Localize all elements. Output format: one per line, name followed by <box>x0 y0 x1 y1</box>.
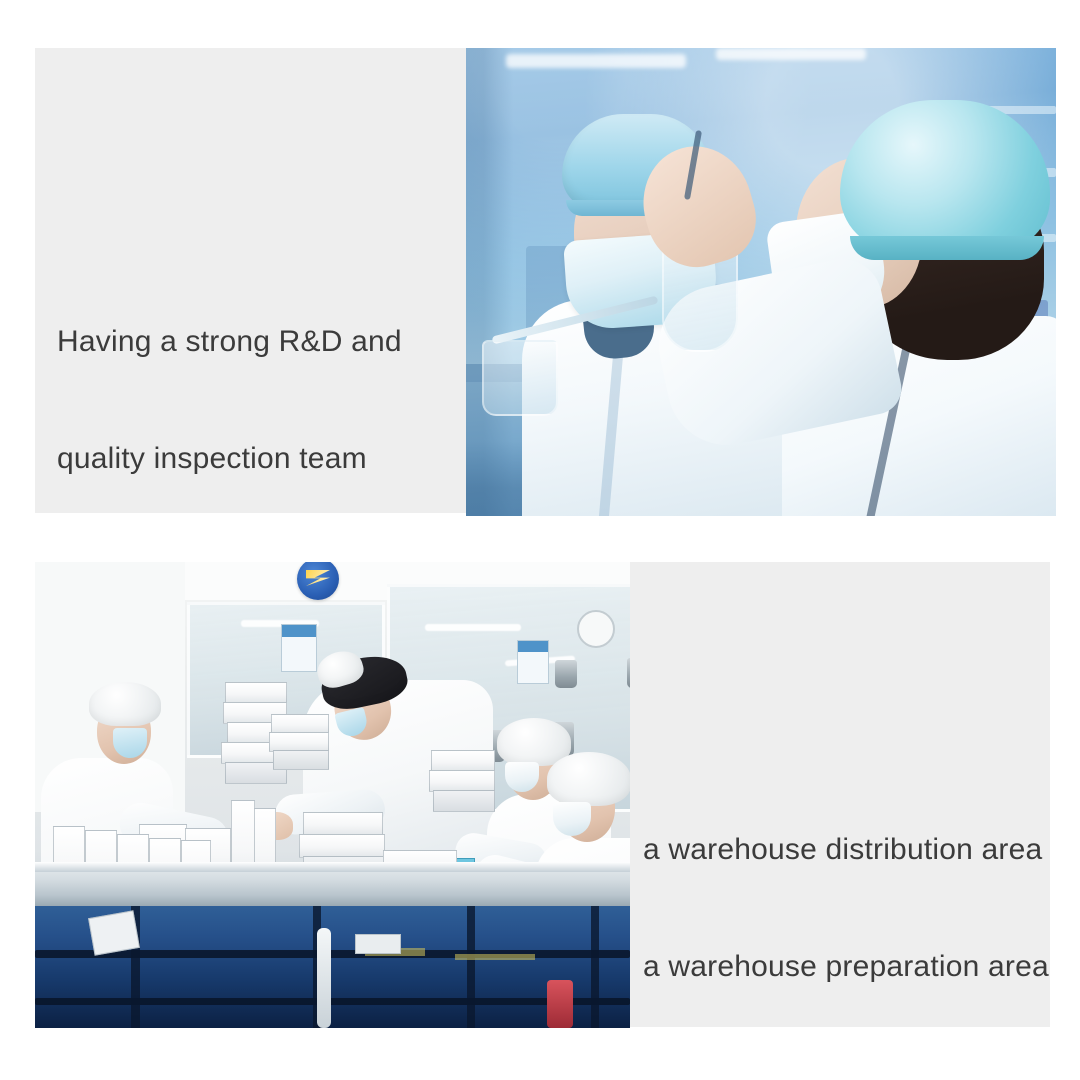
ceiling-light-icon <box>425 624 521 631</box>
wall-clock-icon <box>577 610 615 648</box>
warehouse-packaging-photo <box>35 562 630 1028</box>
rd-caption-line-2: quality inspection team <box>57 439 402 478</box>
wall-notice-board <box>517 640 549 684</box>
worker-leg <box>317 928 331 1028</box>
hairnet-icon <box>89 682 161 726</box>
table-rail <box>35 950 630 958</box>
carton-box <box>225 682 287 704</box>
rd-caption: Having a strong R&D and quality inspecti… <box>57 244 402 556</box>
hairnet-icon <box>547 752 630 806</box>
carton-box <box>88 910 140 955</box>
table-leg <box>467 906 475 1028</box>
steel-table-edge <box>35 862 630 872</box>
ceiling-light-icon <box>716 48 866 60</box>
wall-notice-board <box>281 624 317 672</box>
warehouse-caption: a warehouse distribution area a warehous… <box>643 752 1049 1064</box>
carton-box <box>429 770 495 792</box>
warehouse-caption-line-1: a warehouse distribution area <box>643 830 1049 869</box>
carton-box <box>303 812 383 836</box>
table-leg <box>591 906 599 1028</box>
worker-leg <box>547 980 573 1028</box>
warehouse-caption-line-2: a warehouse preparation area <box>643 947 1049 986</box>
carton-box <box>299 834 385 858</box>
rd-caption-line-1: Having a strong R&D and <box>57 322 402 361</box>
ceiling-light-icon <box>506 54 686 68</box>
floor-tape <box>455 954 535 960</box>
carton-box <box>271 714 329 734</box>
carton-box <box>269 732 329 752</box>
poster-root: Having a strong R&D and quality inspecti… <box>0 0 1080 1080</box>
lab-inspection-photo <box>466 48 1056 516</box>
carton-box <box>433 790 495 812</box>
table-rail <box>35 998 630 1005</box>
carton-box <box>355 934 401 954</box>
carton-box <box>431 750 495 772</box>
carton-box <box>273 750 329 770</box>
steel-container-icon <box>555 660 577 688</box>
beaker-icon <box>482 340 558 416</box>
